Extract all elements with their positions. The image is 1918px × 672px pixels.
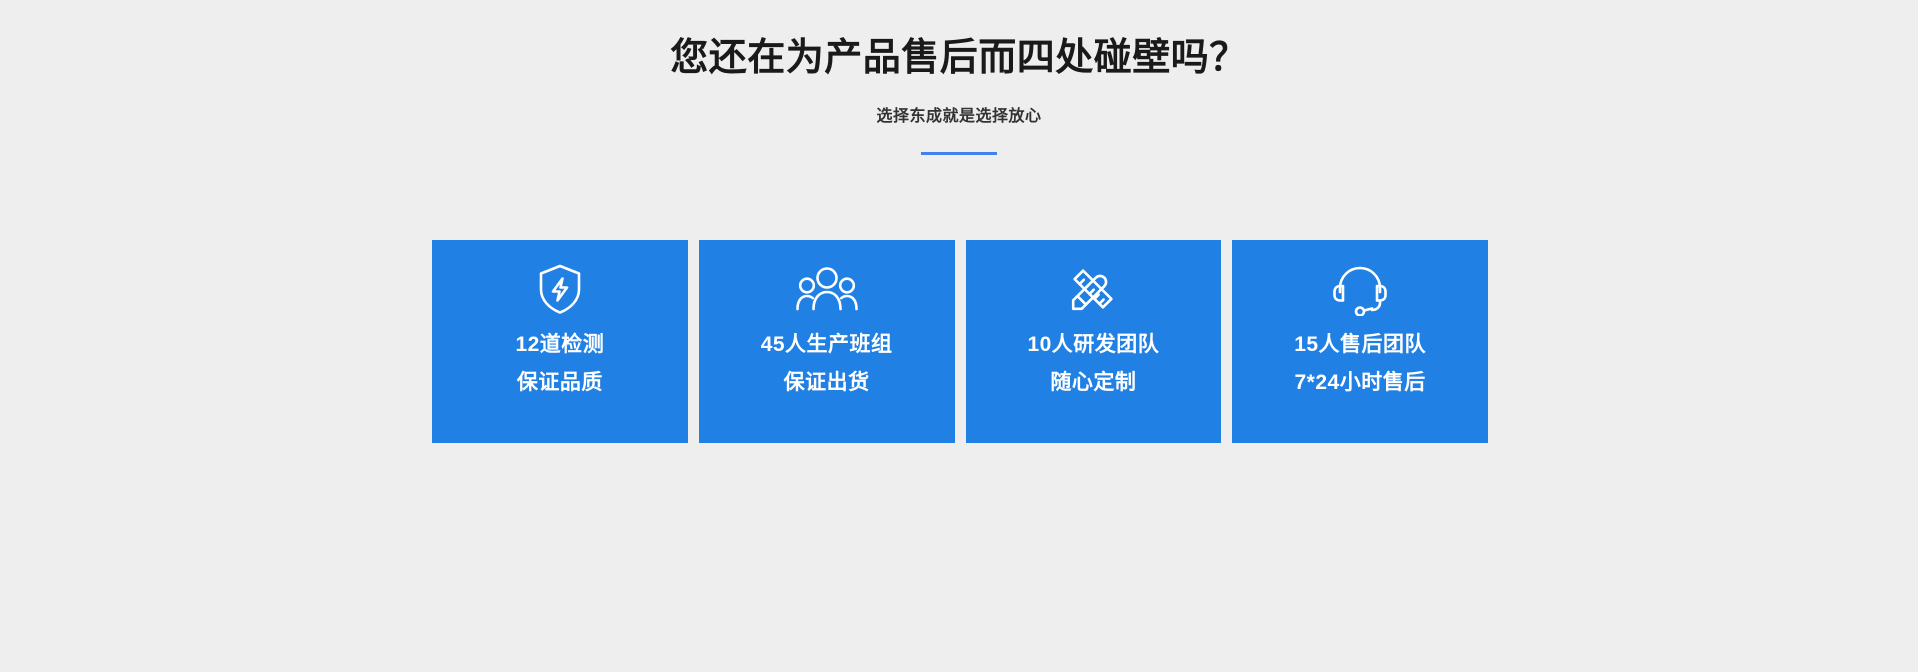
feature-card-line2: 保证出货: [761, 372, 893, 393]
pencil-ruler-icon: [1062, 258, 1124, 320]
page-subtitle: 选择东成就是选择放心: [0, 80, 1918, 126]
feature-card-text: 15人售后团队 7*24小时售后: [1294, 334, 1426, 393]
feature-card-line1: 15人售后团队: [1294, 334, 1426, 355]
feature-card-text: 12道检测 保证品质: [515, 334, 604, 393]
feature-card-quality[interactable]: 12道检测 保证品质: [432, 240, 688, 443]
feature-card-line2: 7*24小时售后: [1294, 372, 1426, 393]
feature-card-line2: 随心定制: [1027, 372, 1159, 393]
header-block: 您还在为产品售后而四处碰壁吗？ 选择东成就是选择放心: [0, 0, 1918, 155]
feature-card-support[interactable]: 15人售后团队 7*24小时售后: [1232, 240, 1488, 443]
feature-cards-row: 12道检测 保证品质 45人生产班组 保证出货: [432, 240, 1488, 443]
page-title: 您还在为产品售后而四处碰壁吗？: [0, 0, 1918, 80]
feature-card-rnd[interactable]: 10人研发团队 随心定制: [966, 240, 1222, 443]
feature-card-text: 10人研发团队 随心定制: [1027, 334, 1159, 393]
feature-card-line1: 45人生产班组: [761, 334, 893, 355]
title-divider: [921, 152, 997, 155]
feature-card-production[interactable]: 45人生产班组 保证出货: [699, 240, 955, 443]
shield-bolt-icon: [529, 258, 591, 320]
promo-banner-page: 您还在为产品售后而四处碰壁吗？ 选择东成就是选择放心 12道检测 保证品质: [0, 0, 1918, 672]
people-group-icon: [796, 258, 858, 320]
feature-card-line2: 保证品质: [515, 372, 604, 393]
feature-card-line1: 12道检测: [515, 334, 604, 355]
feature-card-text: 45人生产班组 保证出货: [761, 334, 893, 393]
headset-icon: [1329, 258, 1391, 320]
feature-card-line1: 10人研发团队: [1027, 334, 1159, 355]
